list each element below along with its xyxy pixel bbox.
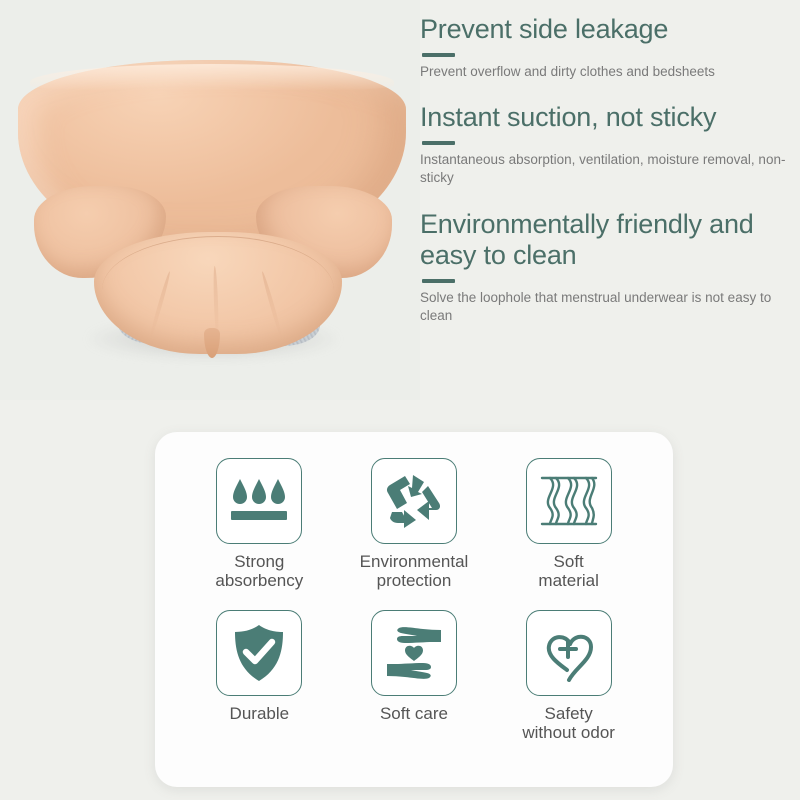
feature-accent-rule bbox=[422, 141, 455, 145]
underwear-waistband bbox=[30, 64, 394, 90]
icon-frame bbox=[526, 458, 612, 544]
benefit-label: Soft care bbox=[380, 704, 448, 723]
benefit-label: Strong absorbency bbox=[215, 552, 303, 590]
heart-cross-icon bbox=[539, 624, 599, 682]
feature-accent-rule bbox=[422, 279, 455, 283]
feature-block-prevent-side-leakage: Prevent side leakage Prevent overflow an… bbox=[420, 6, 800, 80]
benefit-item-safety-without-odor: Safety without odor bbox=[494, 610, 643, 762]
benefit-label: Safety without odor bbox=[522, 704, 615, 742]
feature-description: Prevent overflow and dirty clothes and b… bbox=[420, 63, 800, 81]
icon-frame bbox=[216, 610, 302, 696]
recycle-icon bbox=[384, 472, 444, 530]
benefit-item-soft-material: Soft material bbox=[494, 458, 643, 610]
feature-block-instant-suction: Instant suction, not sticky Instantaneou… bbox=[420, 94, 800, 186]
feature-title: Prevent side leakage bbox=[420, 14, 800, 46]
product-infographic-page: Prevent side leakage Prevent overflow an… bbox=[0, 0, 800, 800]
feature-description: Solve the loophole that menstrual underw… bbox=[420, 289, 800, 325]
icon-frame bbox=[526, 610, 612, 696]
feature-title: Environmentally friendly and easy to cle… bbox=[420, 209, 800, 272]
benefit-item-soft-care: Soft care bbox=[340, 610, 489, 762]
shield-check-icon bbox=[231, 623, 287, 683]
benefit-item-environmental-protection: Environmental protection bbox=[340, 458, 489, 610]
benefit-icon-grid: Strong absorbency Environment bbox=[185, 458, 643, 762]
benefit-icon-card: Strong absorbency Environment bbox=[155, 432, 673, 787]
icon-frame bbox=[371, 458, 457, 544]
hands-heart-icon bbox=[383, 624, 445, 682]
benefit-label: Environmental protection bbox=[360, 552, 469, 590]
benefit-item-durable: Durable bbox=[185, 610, 334, 762]
icon-frame bbox=[216, 458, 302, 544]
benefit-label: Soft material bbox=[538, 552, 598, 590]
feature-block-environmentally-friendly: Environmentally friendly and easy to cle… bbox=[420, 201, 800, 325]
benefit-item-strong-absorbency: Strong absorbency bbox=[185, 458, 334, 610]
feature-list: Prevent side leakage Prevent overflow an… bbox=[420, 6, 800, 338]
benefit-label: Durable bbox=[230, 704, 290, 723]
feature-description: Instantaneous absorption, ventilation, m… bbox=[420, 151, 800, 187]
soft-fabric-waves-icon bbox=[538, 472, 600, 530]
water-drops-absorbency-icon bbox=[228, 473, 290, 529]
icon-frame bbox=[371, 610, 457, 696]
underwear-illustration bbox=[18, 60, 406, 310]
feature-accent-rule bbox=[422, 53, 455, 57]
product-photo bbox=[0, 0, 420, 400]
feature-title: Instant suction, not sticky bbox=[420, 102, 800, 134]
